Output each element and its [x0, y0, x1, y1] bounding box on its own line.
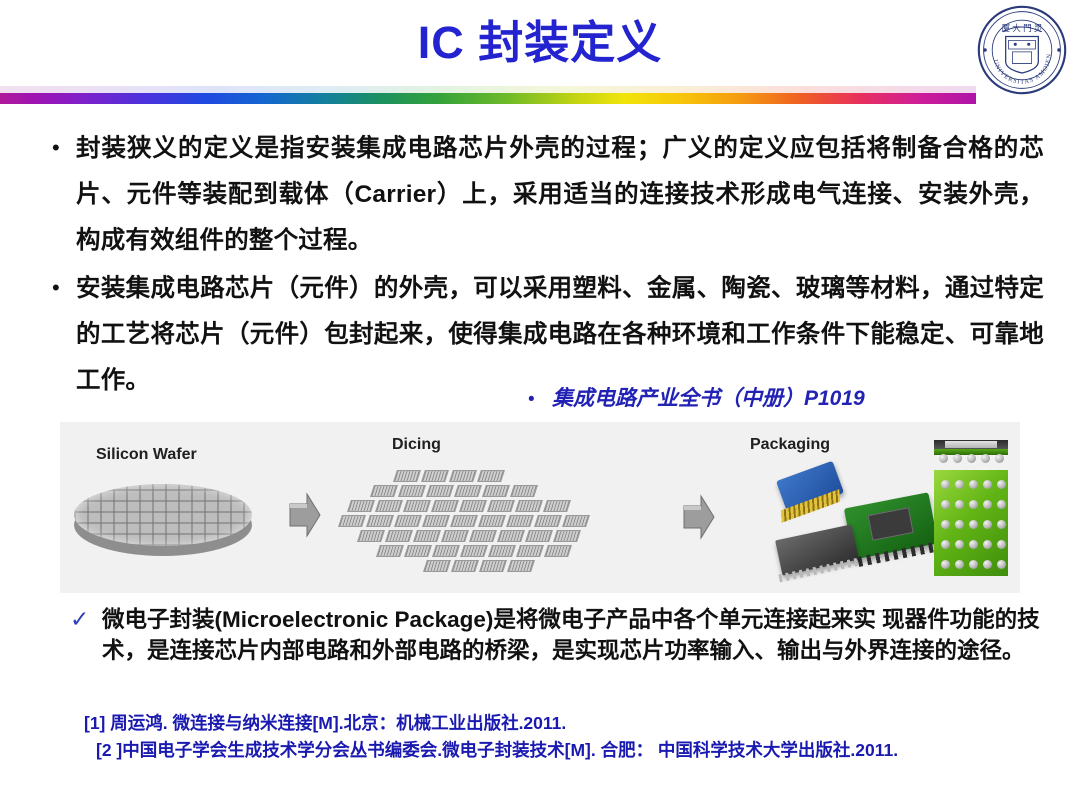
solder-ball — [969, 520, 978, 529]
dark-ic-package-icon — [775, 524, 859, 575]
die-tile — [459, 500, 487, 512]
bullet-marker: • — [44, 266, 76, 310]
solder-ball — [955, 560, 964, 569]
die-tile — [366, 515, 394, 527]
solder-ball — [955, 500, 964, 509]
die-tile — [482, 485, 510, 497]
solder-ball — [969, 480, 978, 489]
die-tile — [338, 515, 366, 527]
solder-ball — [981, 454, 990, 463]
ic-packaging-process-figure: Silicon Wafer Dicing Packaging — [60, 422, 1020, 593]
solder-ball — [997, 520, 1006, 529]
die-tile — [450, 515, 478, 527]
die-tile — [404, 545, 432, 557]
die-tile — [393, 470, 421, 482]
die-tile — [516, 545, 544, 557]
figure-label-silicon-wafer: Silicon Wafer — [96, 446, 197, 464]
die-tile — [423, 560, 451, 572]
svg-text:厦 大 門 灵: 厦 大 門 灵 — [1002, 22, 1043, 33]
die-tile — [451, 560, 479, 572]
solder-ball — [997, 540, 1006, 549]
die-tile — [357, 530, 385, 542]
solder-ball — [997, 560, 1006, 569]
die-tile — [394, 515, 422, 527]
die-tile — [543, 500, 571, 512]
solder-ball — [953, 454, 962, 463]
solder-ball — [955, 540, 964, 549]
definition-check-text: 微电子封装(Microelectronic Package)是将微电子产品中各个… — [102, 604, 1050, 666]
die-tile — [441, 530, 469, 542]
bga-substrate-icon — [932, 440, 1010, 578]
solder-ball — [941, 560, 950, 569]
diced-dies-array — [360, 470, 572, 580]
reference-item-1: [1] 周运鸿. 微连接与纳米连接[M].北京：机械工业出版社.2011. — [84, 710, 1080, 737]
solder-ball — [983, 520, 992, 529]
solder-ball — [941, 500, 950, 509]
die-tile — [432, 545, 460, 557]
bullet-item-1: • 封装狭义的定义是指安装集成电路芯片外壳的过程；广义的定义应包括将制备合格的芯… — [44, 126, 1044, 264]
die-tile — [497, 530, 525, 542]
die-tile — [413, 530, 441, 542]
figure-label-dicing: Dicing — [392, 436, 441, 454]
solder-ball — [955, 520, 964, 529]
die-tile — [510, 485, 538, 497]
die-tile — [534, 515, 562, 527]
solder-ball — [969, 540, 978, 549]
die-tile — [454, 485, 482, 497]
solder-ball — [969, 500, 978, 509]
solder-ball — [983, 560, 992, 569]
die-tile — [553, 530, 581, 542]
solder-ball — [997, 500, 1006, 509]
blue-ic-package-icon — [776, 461, 844, 513]
die-tile — [347, 500, 375, 512]
checkmark-icon: ✓ — [70, 604, 102, 634]
body-bullet-list: • 封装狭义的定义是指安装集成电路芯片外壳的过程；广义的定义应包括将制备合格的芯… — [44, 126, 1044, 406]
die-tile — [487, 500, 515, 512]
die-tile — [544, 545, 572, 557]
solder-ball — [983, 500, 992, 509]
silicon-wafer-icon — [74, 484, 252, 562]
university-seal-icon: 厦 大 門 灵 UNIVERSITAS AMOIENSIS — [974, 2, 1070, 98]
die-tile — [403, 500, 431, 512]
die-tile — [431, 500, 459, 512]
rainbow-divider — [0, 93, 976, 104]
figure-label-packaging: Packaging — [750, 436, 830, 454]
solder-ball — [955, 480, 964, 489]
slide-header: IC 封装定义 厦 大 門 灵 UNIVERSITAS AMOIENSIS — [0, 0, 1080, 108]
die-tile — [478, 515, 506, 527]
die-tile — [479, 560, 507, 572]
green-ic-package-icon — [844, 492, 938, 559]
bullet-marker: • — [44, 126, 76, 170]
solder-ball — [983, 540, 992, 549]
reference-list: [1] 周运鸿. 微连接与纳米连接[M].北京：机械工业出版社.2011. [2… — [84, 710, 1080, 764]
slide-root: { "slide": { "title": "IC 封装定义" }, "seal… — [0, 0, 1080, 810]
solder-ball — [967, 454, 976, 463]
die-tile — [385, 530, 413, 542]
solder-ball — [983, 480, 992, 489]
process-arrow-icon — [288, 492, 322, 538]
solder-ball — [941, 520, 950, 529]
solder-ball — [995, 454, 1004, 463]
die-tile — [426, 485, 454, 497]
bullet-text-1: 封装狭义的定义是指安装集成电路芯片外壳的过程；广义的定义应包括将制备合格的芯片、… — [76, 126, 1044, 264]
solder-ball — [939, 454, 948, 463]
die-tile — [506, 515, 534, 527]
die-tile — [562, 515, 590, 527]
solder-ball — [941, 540, 950, 549]
die-tile — [422, 515, 450, 527]
process-arrow-icon — [682, 494, 716, 540]
reference-item-2: [2 ]中国电子学会生成技术学分会丛书编委会.微电子封装技术[M]. 合肥： 中… — [84, 737, 1080, 764]
die-tile — [376, 545, 404, 557]
die-tile — [488, 545, 516, 557]
die-tile — [515, 500, 543, 512]
die-tile — [421, 470, 449, 482]
solder-ball — [969, 560, 978, 569]
source-citation: • 集成电路产业全书（中册）P1019 — [528, 382, 865, 412]
die-tile — [449, 470, 477, 482]
die-tile — [370, 485, 398, 497]
die-tile — [460, 545, 488, 557]
solder-ball — [997, 480, 1006, 489]
die-tile — [398, 485, 426, 497]
source-citation-marker: • — [528, 389, 552, 411]
solder-ball — [941, 480, 950, 489]
source-citation-text: 集成电路产业全书（中册）P1019 — [552, 382, 865, 412]
die-tile — [525, 530, 553, 542]
die-tile — [507, 560, 535, 572]
die-tile — [477, 470, 505, 482]
definition-check-block: ✓ 微电子封装(Microelectronic Package)是将微电子产品中… — [70, 604, 1050, 666]
die-tile — [469, 530, 497, 542]
die-tile — [375, 500, 403, 512]
page-title: IC 封装定义 — [0, 8, 1080, 78]
